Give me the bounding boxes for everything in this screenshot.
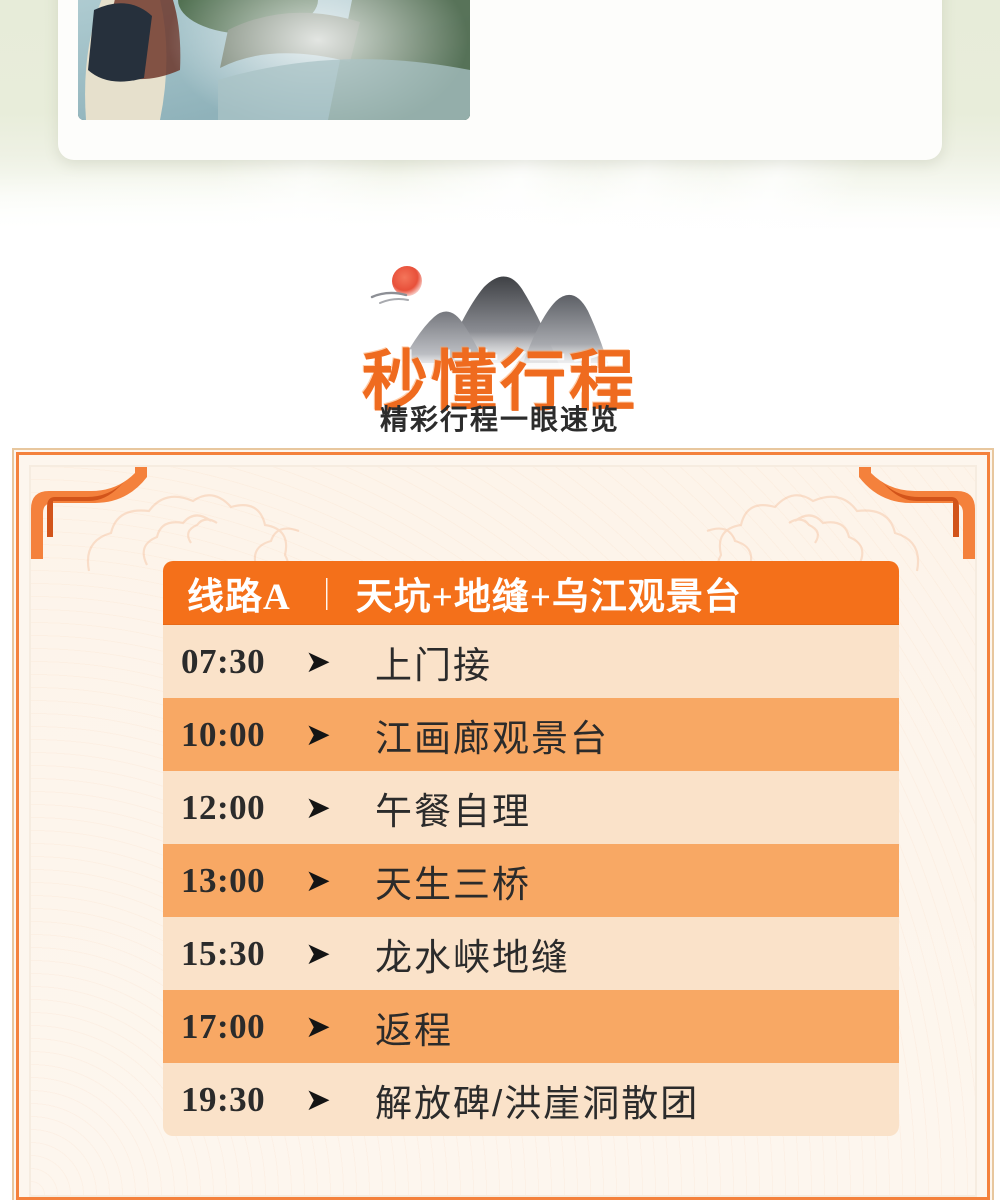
itinerary-frame-inner: 线路A ｜ 天坑+地缝+乌江观景台 07:30 ➤ 上门接 10:00 ➤ 江画… [29,465,977,1197]
header-separator: ｜ [311,570,344,616]
route-label: 线路A [187,566,291,620]
table-row: 07:30 ➤ 上门接 [163,625,899,698]
row-label: 午餐自理 [375,781,531,835]
table-row: 10:00 ➤ 江画廊观景台 [163,698,899,771]
route-title: 天坑+地缝+乌江观景台 [356,566,742,620]
row-time: 15:30 [163,934,305,974]
arrow-icon: ➤ [305,1011,375,1042]
corner-ornament-icon [31,467,147,559]
feature-card: DEEP PURE PLAY ·全程不进店 ·无购物无自费 [58,0,942,160]
arrow-icon: ➤ [305,1084,375,1115]
table-row: 19:30 ➤ 解放碑/洪崖洞散团 [163,1063,899,1136]
row-time: 10:00 [163,715,305,755]
arrow-icon: ➤ [305,865,375,896]
table-row: 15:30 ➤ 龙水峡地缝 [163,917,899,990]
row-label: 江画廊观景台 [375,708,609,762]
row-label: 上门接 [375,635,492,689]
page-subtitle: 精彩行程一眼速览 [0,398,1000,438]
arrow-icon: ➤ [305,792,375,823]
stream-play-photo [78,0,470,120]
row-time: 12:00 [163,788,305,828]
row-label: 解放碑/洪崖洞散团 [375,1073,699,1127]
arrow-icon: ➤ [305,646,375,677]
table-row: 17:00 ➤ 返程 [163,990,899,1063]
row-time: 07:30 [163,642,305,682]
table-row: 12:00 ➤ 午餐自理 [163,771,899,844]
row-time: 19:30 [163,1080,305,1120]
arrow-icon: ➤ [305,719,375,750]
row-label: 返程 [375,1000,453,1054]
row-label: 天生三桥 [375,854,531,908]
row-time: 13:00 [163,861,305,901]
section-title-block: 秒懂行程 精彩行程一眼速览 [0,250,1000,435]
table-row: 13:00 ➤ 天生三桥 [163,844,899,917]
row-label: 龙水峡地缝 [375,927,570,981]
arrow-icon: ➤ [305,938,375,969]
row-time: 17:00 [163,1007,305,1047]
itinerary-table-header: 线路A ｜ 天坑+地缝+乌江观景台 [163,561,899,625]
corner-ornament-icon [859,467,975,559]
itinerary-table: 线路A ｜ 天坑+地缝+乌江观景台 07:30 ➤ 上门接 10:00 ➤ 江画… [163,561,899,1136]
itinerary-frame: 线路A ｜ 天坑+地缝+乌江观景台 07:30 ➤ 上门接 10:00 ➤ 江画… [16,452,990,1200]
